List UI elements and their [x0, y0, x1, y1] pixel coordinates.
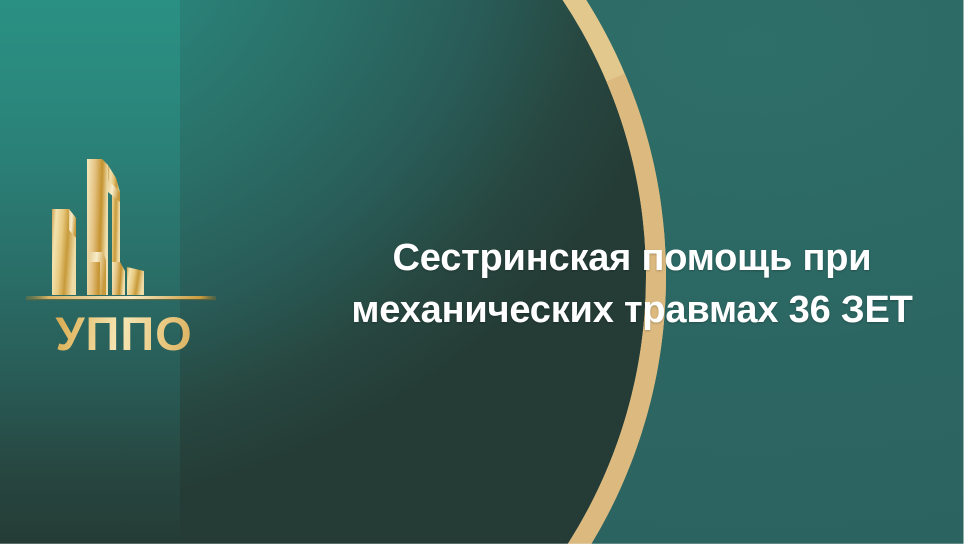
slide-title: Сестринская помощь при механических трав…: [316, 232, 948, 337]
logo: УППО: [24, 140, 224, 365]
title-slide: УППО Сестринская помощь при механических…: [0, 0, 964, 544]
logo-wordmark: УППО: [24, 310, 224, 357]
